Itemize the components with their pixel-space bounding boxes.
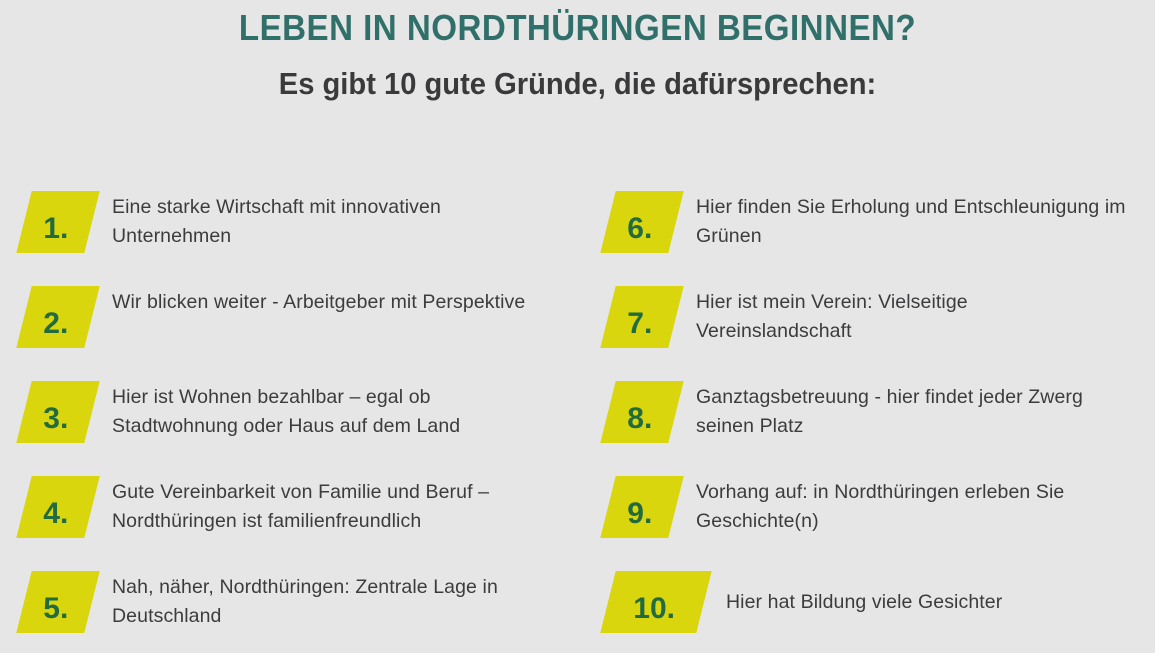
number-badge: 1. [16, 191, 99, 253]
badge-number: 6. [628, 214, 653, 244]
badge-number: 4. [44, 499, 69, 529]
reason-text: Vorhang auf: in Nordthüringen erleben Si… [696, 478, 1126, 536]
list-item: 3. Hier ist Wohnen bezahlbar – egal ob S… [12, 368, 572, 463]
list-item: 8. Ganztagsbetreuung - hier findet jeder… [596, 368, 1155, 463]
number-badge: 2. [16, 286, 99, 348]
badge-number: 8. [628, 404, 653, 434]
badge-number: 1. [44, 214, 69, 244]
reasons-column-right: 6. Hier finden Sie Erholung und Entschle… [596, 178, 1155, 647]
list-item: 2. Wir blicken weiter - Arbeitgeber mit … [12, 273, 572, 368]
list-item: 7. Hier ist mein Verein: Vielseitige Ver… [596, 273, 1155, 368]
badge-number: 2. [44, 309, 69, 339]
reason-text: Ganztagsbetreuung - hier findet jeder Zw… [696, 383, 1126, 441]
page-subtitle: Es gibt 10 gute Gründe, die dafürspreche… [35, 49, 1121, 102]
reason-text: Hier ist mein Verein: Vielseitige Verein… [696, 288, 1126, 346]
number-badge: 5. [16, 571, 99, 633]
page-title: LEBEN IN NORDTHÜRINGEN BEGINNEN? [46, 0, 1109, 49]
reason-text: Eine starke Wirtschaft mit innovativen U… [112, 193, 542, 251]
reasons-list: 1. Eine starke Wirtschaft mit innovative… [0, 178, 1155, 647]
badge-number: 9. [628, 499, 653, 529]
number-badge: 3. [16, 381, 99, 443]
reason-text: Hier finden Sie Erholung und Entschleuni… [696, 193, 1126, 251]
number-badge: 9. [600, 476, 683, 538]
reasons-column-left: 1. Eine starke Wirtschaft mit innovative… [12, 178, 572, 647]
badge-number: 7. [628, 309, 653, 339]
badge-number: 10. [633, 594, 675, 624]
poster-page: LEBEN IN NORDTHÜRINGEN BEGINNEN? Es gibt… [0, 0, 1155, 647]
reason-text: Hier ist Wohnen bezahlbar – egal ob Stad… [112, 383, 542, 441]
list-item: 10. Hier hat Bildung viele Gesichter [596, 558, 1155, 653]
number-badge: 7. [600, 286, 683, 348]
list-item: 5. Nah, näher, Nordthüringen: Zentrale L… [12, 558, 572, 653]
badge-number: 5. [44, 594, 69, 624]
reason-text: Hier hat Bildung viele Gesichter [726, 588, 1155, 617]
reason-text: Gute Vereinbarkeit von Familie und Beruf… [112, 478, 542, 536]
number-badge: 10. [600, 571, 711, 633]
list-item: 9. Vorhang auf: in Nordthüringen erleben… [596, 463, 1155, 558]
number-badge: 6. [600, 191, 683, 253]
list-item: 1. Eine starke Wirtschaft mit innovative… [12, 178, 572, 273]
reason-text: Wir blicken weiter - Arbeitgeber mit Per… [112, 288, 542, 317]
reason-text: Nah, näher, Nordthüringen: Zentrale Lage… [112, 573, 542, 631]
number-badge: 8. [600, 381, 683, 443]
badge-number: 3. [44, 404, 69, 434]
poster-header: LEBEN IN NORDTHÜRINGEN BEGINNEN? Es gibt… [0, 0, 1155, 102]
list-item: 4. Gute Vereinbarkeit von Familie und Be… [12, 463, 572, 558]
number-badge: 4. [16, 476, 99, 538]
list-item: 6. Hier finden Sie Erholung und Entschle… [596, 178, 1155, 273]
